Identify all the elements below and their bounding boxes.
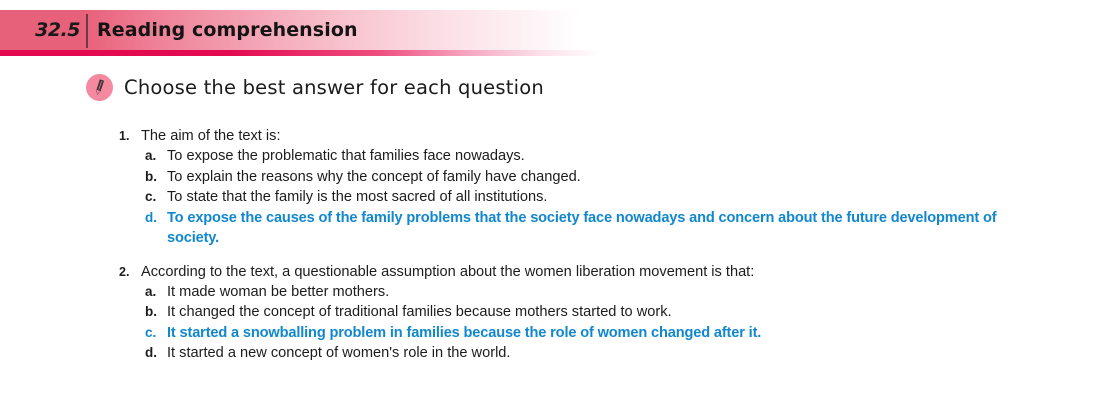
answer-option-a[interactable]: a. It made woman be better mothers. [0, 282, 1100, 303]
question-block: 1. The aim of the text is: a. To expose … [0, 126, 1100, 249]
instruction-text: Choose the best answer for each question [124, 76, 544, 99]
option-letter: d. [145, 345, 167, 360]
option-letter: d. [145, 210, 167, 225]
option-text: To state that the family is the most sac… [167, 187, 547, 208]
section-number: 32.5 [0, 10, 80, 50]
option-letter: c. [145, 189, 167, 204]
question-stem: 1. The aim of the text is: [0, 126, 1100, 146]
header-vertical-divider [86, 14, 88, 48]
option-text: It made woman be better mothers. [167, 282, 389, 303]
header-bottom-rule [0, 50, 660, 56]
answer-option-d[interactable]: d. It started a new concept of women's r… [0, 343, 1100, 364]
answer-option-d-selected[interactable]: d. To expose the causes of the family pr… [0, 208, 1100, 249]
answer-option-c[interactable]: c. To state that the family is the most … [0, 187, 1100, 208]
instruction-row: Choose the best answer for each question [86, 74, 544, 101]
answer-option-b[interactable]: b. To explain the reasons why the concep… [0, 167, 1100, 188]
answer-option-b[interactable]: b. It changed the concept of traditional… [0, 302, 1100, 323]
question-number: 2. [119, 265, 141, 279]
question-number: 1. [119, 129, 141, 143]
option-letter: c. [145, 325, 167, 340]
question-text: According to the text, a questionable as… [141, 262, 754, 282]
option-letter: a. [145, 284, 167, 299]
section-header-banner: 32.5 Reading comprehension [0, 10, 660, 56]
option-text: It started a new concept of women's role… [167, 343, 510, 364]
option-letter: b. [145, 304, 167, 319]
question-text: The aim of the text is: [141, 126, 281, 146]
option-letter: b. [145, 169, 167, 184]
option-text: It changed the concept of traditional fa… [167, 302, 672, 323]
option-text: To explain the reasons why the concept o… [167, 167, 581, 188]
question-stem: 2. According to the text, a questionable… [0, 262, 1100, 282]
questions-list: 1. The aim of the text is: a. To expose … [0, 126, 1100, 377]
option-text: It started a snowballing problem in fami… [167, 323, 761, 344]
option-text: To expose the causes of the family probl… [167, 208, 1007, 249]
pencil-icon [86, 74, 113, 101]
page-title: Reading comprehension [97, 10, 358, 50]
option-text: To expose the problematic that families … [167, 146, 525, 167]
option-letter: a. [145, 148, 167, 163]
answer-option-c-selected[interactable]: c. It started a snowballing problem in f… [0, 323, 1100, 344]
question-block: 2. According to the text, a questionable… [0, 262, 1100, 364]
answer-option-a[interactable]: a. To expose the problematic that famili… [0, 146, 1100, 167]
